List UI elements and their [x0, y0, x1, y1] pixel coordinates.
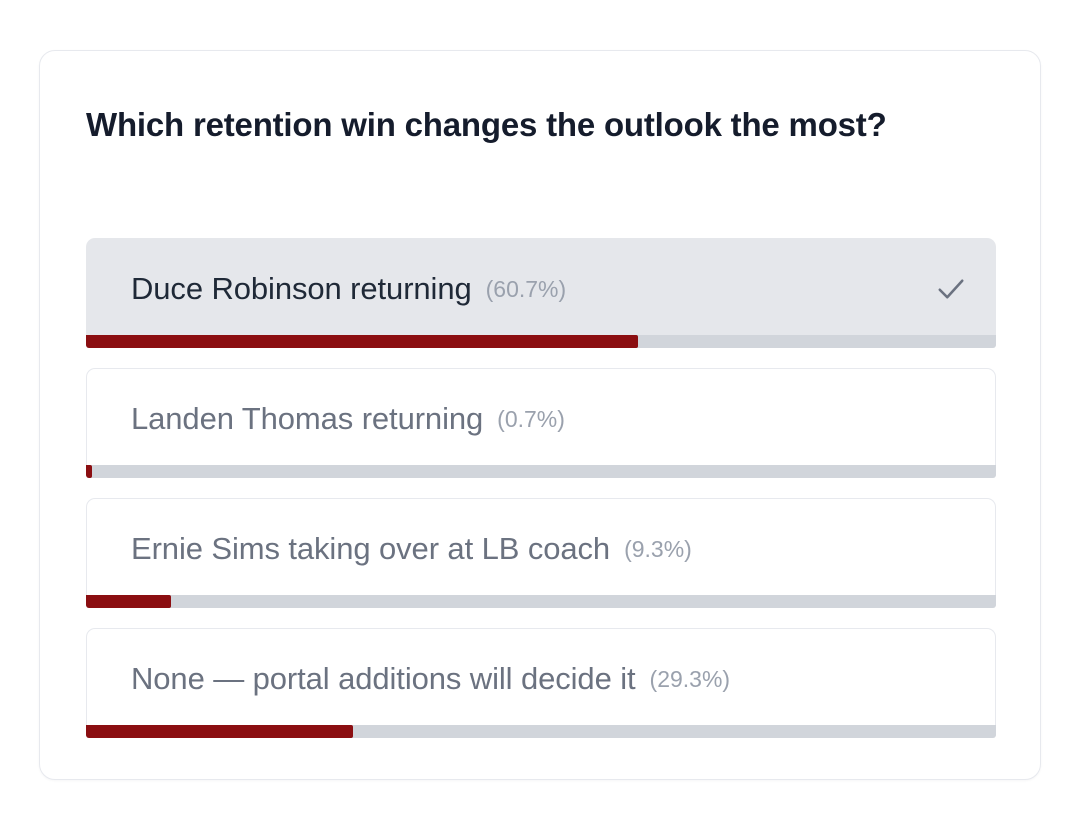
poll-option-percent: (9.3%) — [624, 536, 692, 563]
poll-option-label: Duce Robinson returning — [131, 271, 472, 307]
poll-option[interactable]: Ernie Sims taking over at LB coach (9.3%… — [86, 498, 996, 608]
poll-option-body[interactable]: None — portal additions will decide it (… — [86, 628, 996, 729]
poll-option-bar-fill — [86, 725, 353, 738]
poll-option-bar-track — [86, 465, 996, 478]
poll-option-bar-fill — [86, 595, 171, 608]
poll-option-bar-track — [86, 595, 996, 608]
poll-option-bar-track — [86, 725, 996, 738]
poll-option-body[interactable]: Landen Thomas returning (0.7%) — [86, 368, 996, 469]
poll-card: Which retention win changes the outlook … — [39, 50, 1041, 780]
poll-question: Which retention win changes the outlook … — [86, 103, 966, 148]
poll-options-list: Duce Robinson returning (60.7%) Landen T… — [86, 238, 996, 738]
check-icon — [933, 271, 969, 307]
poll-option-bar-fill — [86, 465, 92, 478]
poll-option-label: Ernie Sims taking over at LB coach — [131, 531, 610, 567]
poll-option[interactable]: Duce Robinson returning (60.7%) — [86, 238, 996, 348]
poll-option-percent: (29.3%) — [650, 666, 731, 693]
poll-option-percent: (60.7%) — [486, 276, 567, 303]
poll-option-label: Landen Thomas returning — [131, 401, 483, 437]
poll-option-body[interactable]: Ernie Sims taking over at LB coach (9.3%… — [86, 498, 996, 599]
poll-option-body[interactable]: Duce Robinson returning (60.7%) — [86, 238, 996, 339]
poll-option[interactable]: Landen Thomas returning (0.7%) — [86, 368, 996, 478]
poll-option-percent: (0.7%) — [497, 406, 565, 433]
poll-option-label: None — portal additions will decide it — [131, 661, 636, 697]
poll-option[interactable]: None — portal additions will decide it (… — [86, 628, 996, 738]
poll-option-bar-track — [86, 335, 996, 348]
poll-option-bar-fill — [86, 335, 638, 348]
